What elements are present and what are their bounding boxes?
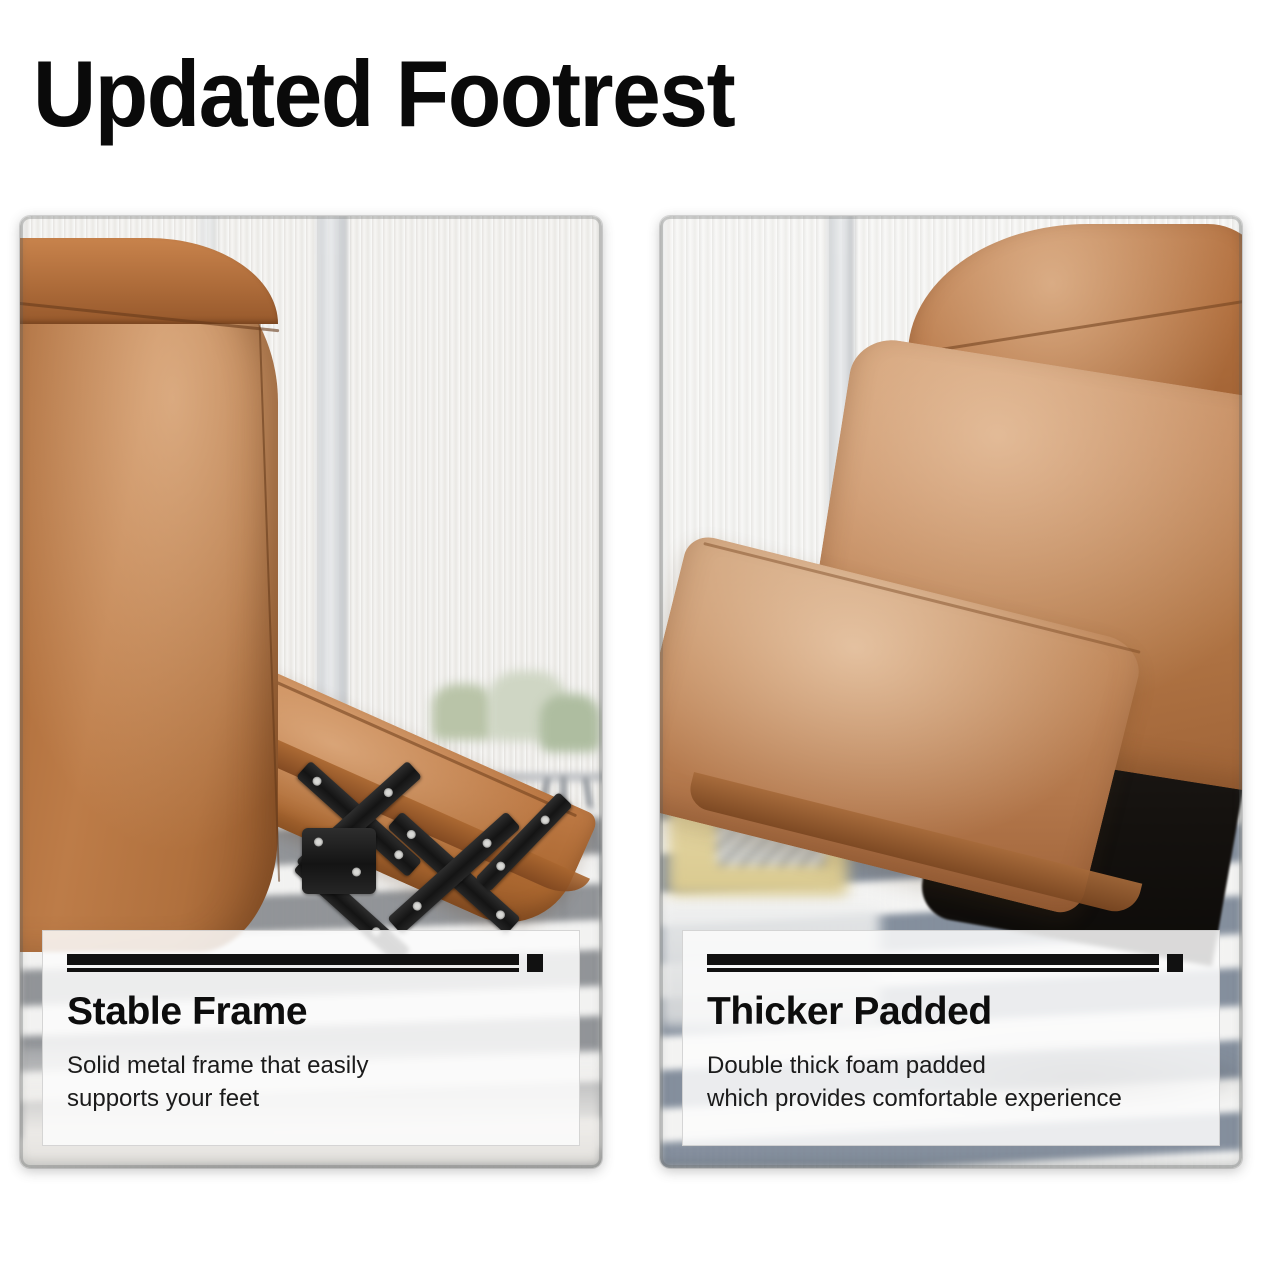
panel-row: Stable Frame Solid metal frame that easi… (0, 216, 1263, 1176)
infographic-page: Updated Footrest (0, 0, 1263, 1263)
mechanism-plate (302, 828, 376, 894)
caption-body: Double thick foam padded which provides … (707, 1049, 1195, 1115)
marker-thin-bar (67, 968, 519, 972)
caption-box-stable-frame: Stable Frame Solid metal frame that easi… (42, 930, 580, 1146)
marker-thick-bar (707, 954, 1159, 965)
marker-square-block (527, 954, 543, 972)
feature-panel-stable-frame[interactable]: Stable Frame Solid metal frame that easi… (20, 216, 602, 1168)
page-title: Updated Footrest (33, 44, 734, 144)
recliner-chair-back (20, 242, 278, 952)
feature-panel-thicker-padded[interactable]: Thicker Padded Double thick foam padded … (660, 216, 1242, 1168)
plant-icon (540, 694, 600, 752)
caption-title: Thicker Padded (707, 989, 1195, 1035)
caption-marker-icon (67, 953, 555, 975)
caption-body: Solid metal frame that easily supports y… (67, 1049, 555, 1115)
caption-title: Stable Frame (67, 989, 555, 1035)
caption-box-thicker-padded: Thicker Padded Double thick foam padded … (682, 930, 1220, 1146)
marker-thin-bar (707, 968, 1159, 972)
plant-icon (432, 684, 494, 740)
caption-marker-icon (707, 953, 1195, 975)
marker-square-block (1167, 954, 1183, 972)
marker-thick-bar (67, 954, 519, 965)
